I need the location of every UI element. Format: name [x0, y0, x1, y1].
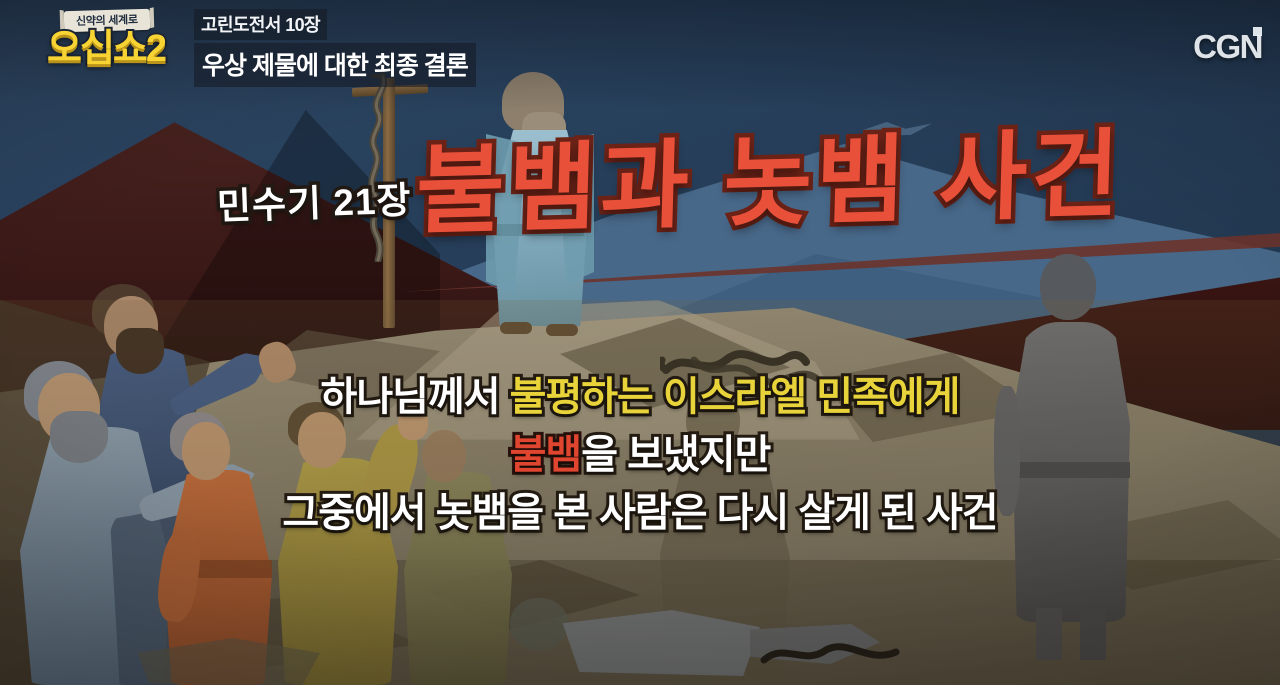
head	[1040, 254, 1096, 320]
caption-line-1-highlight: 불평하는 이스라엘 민족에게	[510, 375, 960, 419]
leg	[1080, 608, 1106, 660]
caption-line-3: 그중에서 놋뱀을 본 사람은 다시 살게 된 사건	[0, 484, 1280, 542]
program-logo[interactable]: 신약의 세계로 오십쇼2	[22, 8, 190, 76]
caption-line-3-plain: 그중에서 놋뱀을 본 사람은 다시 살게 된 사건	[282, 491, 997, 535]
caption-line-2-plain: 을 보냈지만	[581, 433, 770, 477]
cgn-watermark: CGN	[1193, 27, 1262, 66]
moses-sandal-left	[500, 322, 532, 334]
torso	[550, 610, 760, 676]
headline-title: 불뱀과 놋뱀 사건	[414, 121, 1124, 246]
caption-line-2-highlight: 불뱀	[510, 433, 582, 477]
video-frame: 신약의 세계로 오십쇼2 고린도전서 10장 우상 제물에 대한 최종 결론 C…	[0, 0, 1280, 685]
title-block: 민수기 21장 불뱀과 놋뱀 사건	[0, 128, 1280, 238]
caption-line-1: 하나님께서 불평하는 이스라엘 민족에게	[0, 368, 1280, 426]
caption-block: 하나님께서 불평하는 이스라엘 민족에게 불뱀을 보냈지만 그중에서 놋뱀을 본…	[0, 368, 1280, 542]
program-logo-title: 오십쇼2	[22, 26, 190, 72]
cgn-watermark-text: CGN	[1193, 28, 1262, 65]
leg	[1036, 608, 1062, 660]
head	[510, 598, 568, 650]
caption-line-1-plain: 하나님께서	[321, 375, 510, 419]
chapter-title: 민수기 21장	[216, 179, 412, 230]
fallen-figure-left	[130, 628, 430, 685]
scripture-reference-label: 고린도전서 10장	[194, 9, 327, 40]
cgn-logo-mark	[1253, 27, 1262, 36]
moses-sandal-right	[546, 324, 578, 336]
header-block: 고린도전서 10장 우상 제물에 대한 최종 결론	[194, 9, 476, 87]
torso	[130, 638, 320, 685]
background-illustration	[0, 0, 1280, 685]
snake-icon	[760, 638, 900, 672]
topic-label: 우상 제물에 대한 최종 결론	[194, 43, 476, 87]
caption-line-2: 불뱀을 보냈지만	[0, 426, 1280, 484]
